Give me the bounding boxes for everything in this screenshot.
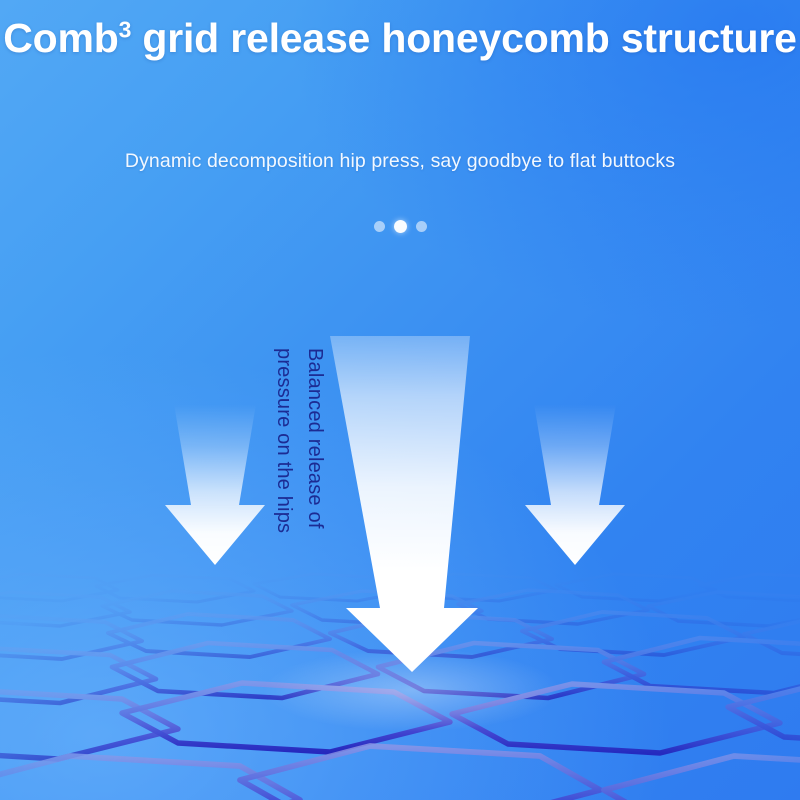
pressure-arrow-right: [525, 404, 625, 565]
page-title-rest: grid release honeycomb structure: [131, 15, 797, 61]
page-title-prefix: Comb: [3, 15, 118, 61]
carousel-dot-1[interactable]: [374, 221, 385, 232]
illustration-stage: Balanced release of pressure on the hips: [0, 0, 800, 800]
honeycomb-scene: [0, 0, 800, 800]
carousel-dot-3[interactable]: [416, 221, 427, 232]
page-title: Comb3 grid release honeycomb structure: [0, 12, 800, 64]
pressure-arrow-left: [165, 404, 265, 565]
product-feature-poster: Balanced release of pressure on the hips…: [0, 0, 800, 800]
page-title-superscript: 3: [119, 16, 132, 42]
carousel-dots[interactable]: [0, 220, 800, 233]
carousel-dot-2[interactable]: [394, 220, 407, 233]
page-subtitle: Dynamic decomposition hip press, say goo…: [0, 150, 800, 173]
